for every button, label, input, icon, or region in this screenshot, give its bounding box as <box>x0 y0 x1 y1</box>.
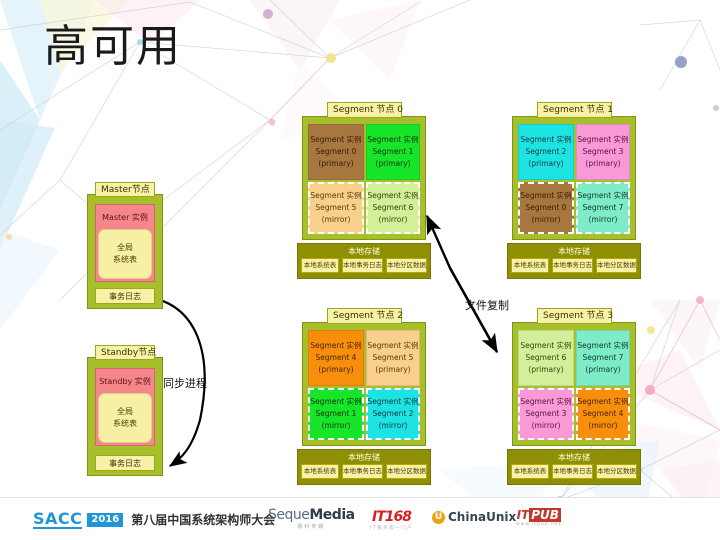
local-storage-cell-1: 本地事务日志 <box>342 258 383 273</box>
instance-role: (mirror) <box>589 420 618 432</box>
segment-node-0-instance-2[interactable]: Segment 实例 Segment 5 (mirror) <box>308 182 364 234</box>
instance-role: (mirror) <box>322 420 351 432</box>
local-storage-cell-1: 本地事务日志 <box>552 464 593 479</box>
instance-name: Segment 7 <box>583 202 624 214</box>
local-storage-cell-2: 本地分区数据 <box>596 258 637 273</box>
standby-instance[interactable]: Standby 实例 全局 系统表 <box>95 368 155 446</box>
instance-caption: Segment 实例 <box>310 340 361 352</box>
instance-name: Segment 3 <box>526 408 567 420</box>
segment-node-0-instance-1[interactable]: Segment 实例 Segment 1 (primary) <box>366 124 420 180</box>
standby-transaction-log[interactable]: 事务日志 <box>95 455 155 471</box>
segment-node-1-instance-2[interactable]: Segment 实例 Segment 0 (mirror) <box>518 182 574 234</box>
sacc-conference-name: 第八届中国系统架构师大会 <box>131 511 275 528</box>
sacc-year-badge: 2016 <box>87 513 123 527</box>
master-instance[interactable]: Master 实例 全局 系统表 <box>95 204 155 282</box>
local-storage-title: 本地存储 <box>508 450 640 464</box>
instance-name: Segment 1 <box>316 408 357 420</box>
segment-node-0-label: Segment 节点 0 <box>327 102 402 118</box>
slide-content: 高可用 Master节点 Master 实例 全局 系统表 事务日志 Stand… <box>0 0 720 540</box>
standby-node-label: Standby节点 <box>95 345 155 360</box>
instance-caption: Segment 实例 <box>520 134 571 146</box>
instance-caption: Segment 实例 <box>367 134 418 146</box>
instance-name: Segment 6 <box>526 352 567 364</box>
standby-global-system-table: 全局 系统表 <box>98 393 152 443</box>
local-storage-cell-0: 本地系统表 <box>511 258 549 273</box>
instance-role: (primary) <box>585 158 620 170</box>
segment-node-0-instance-0[interactable]: Segment 实例 Segment 0 (primary) <box>308 124 364 180</box>
standby-instance-title: Standby 实例 <box>99 372 151 388</box>
instance-role: (mirror) <box>379 214 408 226</box>
instance-caption: Segment 实例 <box>577 396 628 408</box>
logo-itpub: ITPUB www.itpub.net <box>516 508 561 527</box>
instance-name: Segment 1 <box>373 146 414 158</box>
segment-node-3-instance-1[interactable]: Segment 实例 Segment 7 (primary) <box>576 330 630 386</box>
instance-name: Segment 0 <box>526 202 567 214</box>
local-storage-title: 本地存储 <box>298 244 430 258</box>
segment-node-3-instance-3[interactable]: Segment 实例 Segment 4 (mirror) <box>576 388 630 440</box>
instance-role: (mirror) <box>322 214 351 226</box>
logo-it168: IT168 IT服务第一门户 <box>370 509 413 531</box>
instance-caption: Segment 实例 <box>367 340 418 352</box>
instance-caption: Segment 实例 <box>520 340 571 352</box>
segment-node-0-local-storage: 本地存储 本地系统表 本地事务日志 本地分区数据 <box>297 243 431 279</box>
instance-role: (primary) <box>528 364 563 376</box>
itpub-main-a: IT <box>517 508 530 522</box>
sequemedia-main-a: Seque <box>268 507 309 523</box>
it168-main: IT168 <box>372 509 411 525</box>
instance-role: (primary) <box>318 364 353 376</box>
local-storage-title: 本地存储 <box>298 450 430 464</box>
instance-name: Segment 6 <box>373 202 414 214</box>
instance-caption: Segment 实例 <box>310 134 361 146</box>
segment-node-3-local-storage: 本地存储 本地系统表 本地事务日志 本地分区数据 <box>507 449 641 485</box>
segment-node-2-instance-2[interactable]: Segment 实例 Segment 1 (mirror) <box>308 388 364 440</box>
page-title: 高可用 <box>44 18 182 76</box>
instance-role: (primary) <box>375 158 410 170</box>
sync-process-label: 同步进程 <box>163 375 207 391</box>
instance-caption: Segment 实例 <box>577 340 628 352</box>
chinaunix-main: ChinaUnix <box>448 510 516 524</box>
local-storage-cell-1: 本地事务日志 <box>552 258 593 273</box>
instance-name: Segment 5 <box>373 352 414 364</box>
instance-role: (mirror) <box>379 420 408 432</box>
instance-name: Segment 5 <box>316 202 357 214</box>
segment-node-2-instance-3[interactable]: Segment 实例 Segment 2 (mirror) <box>366 388 420 440</box>
footer-bar: SACC 2016 第八届中国系统架构师大会 SequeMedia 融科传媒 I… <box>0 497 720 540</box>
local-storage-cell-2: 本地分区数据 <box>386 258 427 273</box>
segment-node-2-instance-1[interactable]: Segment 实例 Segment 5 (primary) <box>366 330 420 386</box>
chinaunix-mark-icon: U <box>432 511 445 524</box>
segment-node-0-instance-3[interactable]: Segment 实例 Segment 6 (mirror) <box>366 182 420 234</box>
master-gst-line1: 全局 <box>117 242 133 254</box>
instance-caption: Segment 实例 <box>577 190 628 202</box>
itpub-sub: www.itpub.net <box>516 522 561 527</box>
sacc-branding: SACC 2016 第八届中国系统架构师大会 <box>33 510 275 529</box>
logo-sequemedia: SequeMedia 融科传媒 <box>268 507 355 530</box>
itpub-main-b: PUB <box>529 508 561 522</box>
instance-role: (mirror) <box>532 214 561 226</box>
local-storage-cell-0: 本地系统表 <box>511 464 549 479</box>
it168-sub: IT服务第一门户 <box>370 525 413 531</box>
instance-caption: Segment 实例 <box>520 396 571 408</box>
standby-gst-line1: 全局 <box>117 406 133 418</box>
master-node-label: Master节点 <box>95 182 155 197</box>
instance-name: Segment 0 <box>316 146 357 158</box>
instance-role: (mirror) <box>532 420 561 432</box>
master-gst-line2: 系统表 <box>113 254 137 266</box>
instance-caption: Segment 实例 <box>367 190 418 202</box>
instance-name: Segment 2 <box>526 146 567 158</box>
instance-role: (primary) <box>528 158 563 170</box>
standby-gst-line2: 系统表 <box>113 418 137 430</box>
logo-chinaunix: U ChinaUnix <box>432 510 516 524</box>
instance-caption: Segment 实例 <box>310 190 361 202</box>
segment-node-1-label: Segment 节点 1 <box>537 102 612 118</box>
instance-name: Segment 7 <box>583 352 624 364</box>
instance-name: Segment 4 <box>583 408 624 420</box>
instance-name: Segment 2 <box>373 408 414 420</box>
local-storage-cell-1: 本地事务日志 <box>342 464 383 479</box>
sequemedia-main-b: Media <box>309 507 354 523</box>
master-instance-title: Master 实例 <box>102 208 148 224</box>
instance-role: (primary) <box>375 364 410 376</box>
segment-node-1-local-storage: 本地存储 本地系统表 本地事务日志 本地分区数据 <box>507 243 641 279</box>
sequemedia-sub: 融科传媒 <box>297 523 325 530</box>
segment-node-1-instance-1[interactable]: Segment 实例 Segment 3 (primary) <box>576 124 630 180</box>
sacc-wordmark: SACC <box>33 510 82 529</box>
master-transaction-log[interactable]: 事务日志 <box>95 288 155 304</box>
instance-caption: Segment 实例 <box>520 190 571 202</box>
local-storage-title: 本地存储 <box>508 244 640 258</box>
local-storage-cell-2: 本地分区数据 <box>386 464 427 479</box>
instance-role: (primary) <box>318 158 353 170</box>
segment-node-1-instance-3[interactable]: Segment 实例 Segment 7 (mirror) <box>576 182 630 234</box>
instance-name: Segment 4 <box>316 352 357 364</box>
segment-node-1-instance-0[interactable]: Segment 实例 Segment 2 (primary) <box>518 124 574 180</box>
local-storage-cell-0: 本地系统表 <box>301 464 339 479</box>
segment-node-2-label: Segment 节点 2 <box>327 308 402 324</box>
instance-name: Segment 3 <box>583 146 624 158</box>
instance-caption: Segment 实例 <box>577 134 628 146</box>
segment-node-2-local-storage: 本地存储 本地系统表 本地事务日志 本地分区数据 <box>297 449 431 485</box>
instance-caption: Segment 实例 <box>310 396 361 408</box>
master-global-system-table: 全局 系统表 <box>98 229 152 279</box>
segment-node-3-instance-0[interactable]: Segment 实例 Segment 6 (primary) <box>518 330 574 386</box>
segment-node-2-instance-0[interactable]: Segment 实例 Segment 4 (primary) <box>308 330 364 386</box>
segment-node-3-label: Segment 节点 3 <box>537 308 612 324</box>
instance-role: (primary) <box>585 364 620 376</box>
instance-caption: Segment 实例 <box>367 396 418 408</box>
file-replication-label: 文件复制 <box>465 297 509 313</box>
local-storage-cell-2: 本地分区数据 <box>596 464 637 479</box>
local-storage-cell-0: 本地系统表 <box>301 258 339 273</box>
instance-role: (mirror) <box>589 214 618 226</box>
segment-node-3-instance-2[interactable]: Segment 实例 Segment 3 (mirror) <box>518 388 574 440</box>
